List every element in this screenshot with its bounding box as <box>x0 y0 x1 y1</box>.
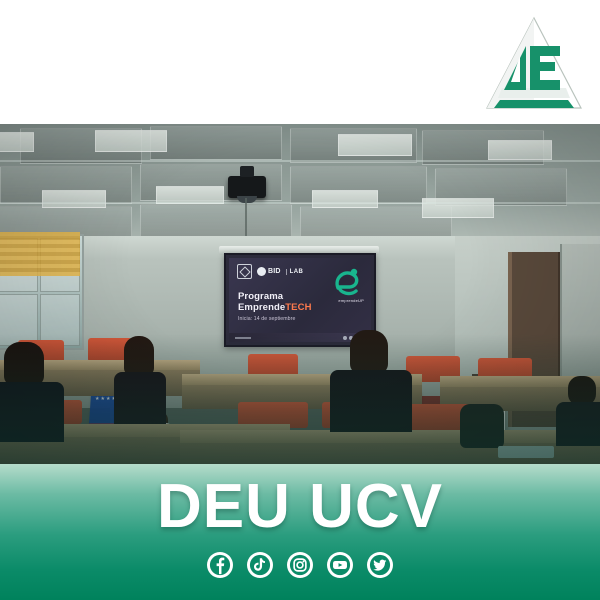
tiktok-icon[interactable] <box>247 552 273 578</box>
de-pyramid-logo <box>480 12 588 116</box>
facebook-icon[interactable] <box>207 552 233 578</box>
twitter-icon[interactable] <box>367 552 393 578</box>
slide-title-line2-highlight: TECH <box>285 302 311 313</box>
audience-member <box>110 336 170 420</box>
slide-logos: BID LAB <box>237 264 303 279</box>
notebook-on-desk <box>498 446 554 460</box>
event-photo: BID LAB emprendeUP Programa EmprendeTECH… <box>0 124 600 464</box>
ucv-seal-icon <box>237 264 252 279</box>
backpack <box>454 400 514 448</box>
social-links[interactable] <box>0 552 600 578</box>
emprende-e-icon <box>332 266 362 300</box>
footer-banner: DEU UCV <box>0 464 600 600</box>
youtube-icon[interactable] <box>327 552 353 578</box>
social-media-post: BID LAB emprendeUP Programa EmprendeTECH… <box>0 0 600 600</box>
window-blind <box>0 232 80 276</box>
audience-member <box>556 376 600 438</box>
slide-title-line1: Programa <box>238 291 312 302</box>
slide-footer-left <box>235 337 251 339</box>
slide-title-line2-plain: Emprende <box>238 302 285 313</box>
projector-mount <box>245 198 247 238</box>
audience-member <box>336 330 406 430</box>
instagram-icon[interactable] <box>287 552 313 578</box>
bid-logo: BID <box>257 267 281 276</box>
slide-title: Programa EmprendeTECH <box>238 291 312 313</box>
ceiling <box>0 124 600 242</box>
bid-dot-icon <box>257 267 266 276</box>
slide-subtitle: Inicia: 14 de septiembre <box>238 316 295 322</box>
ceiling-projector-icon <box>228 176 266 198</box>
header-band <box>0 0 600 124</box>
footer-title: DEU UCV <box>0 476 600 538</box>
slide-progress-line <box>235 337 251 339</box>
lab-label: LAB <box>286 269 304 275</box>
emprende-label: emprendeUP <box>338 298 364 303</box>
bid-label: BID <box>268 268 281 275</box>
audience-member <box>0 342 64 438</box>
